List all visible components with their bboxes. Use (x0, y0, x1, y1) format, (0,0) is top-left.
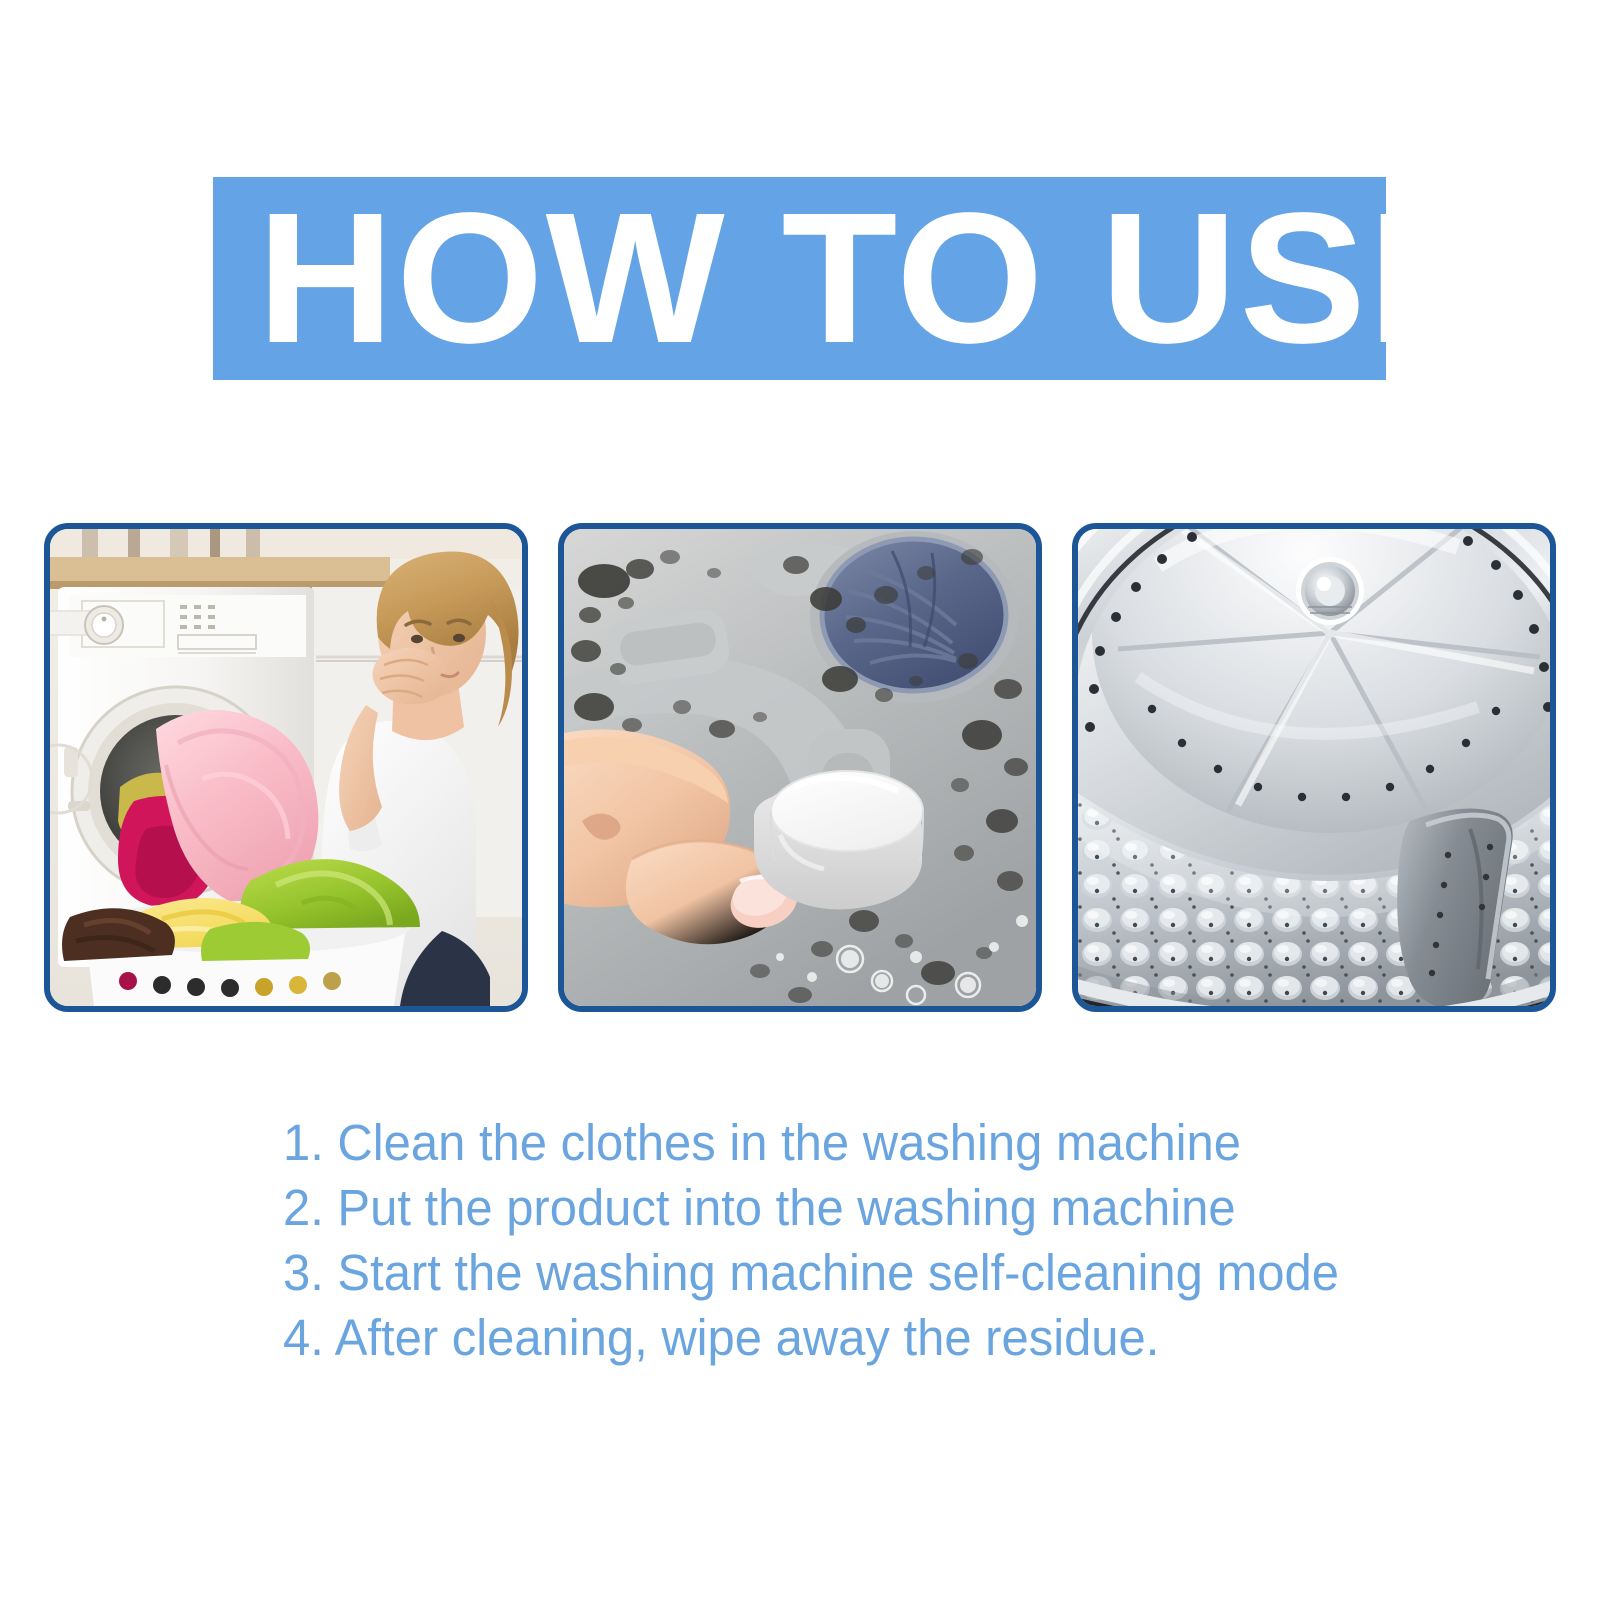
panel-tablet-in-hand (558, 523, 1042, 1012)
step-item-3: 3. Start the washing machine self-cleani… (283, 1240, 1339, 1305)
step-image-row (44, 523, 1556, 1012)
panel-clean-drum (1072, 523, 1556, 1012)
cleaning-tablet-illustration (564, 529, 1036, 1006)
dirty-laundry-illustration (50, 529, 522, 1006)
step-item-4: 4. After cleaning, wipe away the residue… (283, 1305, 1339, 1370)
panel-dirty-laundry (44, 523, 528, 1012)
how-to-use-banner: HOW TO USE (213, 177, 1386, 380)
instruction-steps: 1. Clean the clothes in the washing mach… (283, 1110, 1383, 1370)
step-item-2: 2. Put the product into the washing mach… (283, 1175, 1339, 1240)
step-item-1: 1. Clean the clothes in the washing mach… (283, 1110, 1339, 1175)
page-title: HOW TO USE (257, 186, 1497, 372)
clean-drum-illustration (1078, 529, 1550, 1006)
